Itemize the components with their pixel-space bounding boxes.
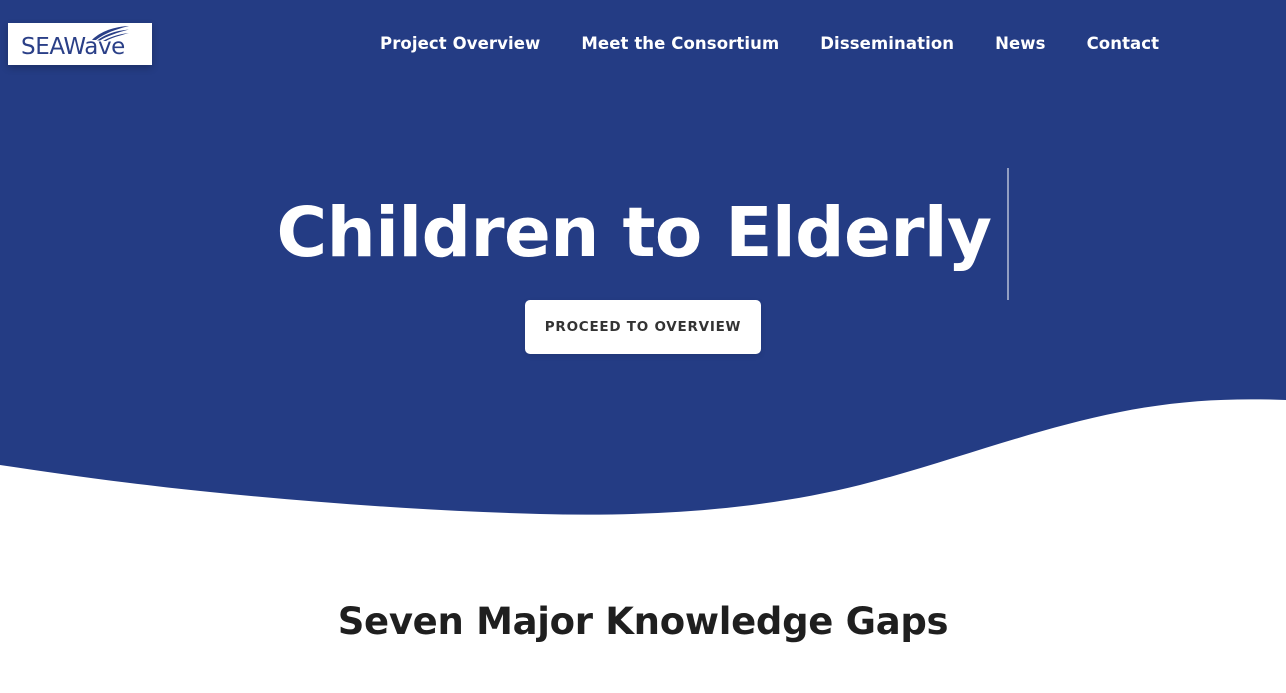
proceed-to-overview-button[interactable]: Proceed to Overview xyxy=(525,300,761,354)
hero-headline-row: Children to Elderly xyxy=(0,168,1286,300)
nav-item-dissemination[interactable]: Dissemination xyxy=(820,30,954,59)
site-logo[interactable]: SEAWave xyxy=(8,23,152,65)
nav-item-news[interactable]: News xyxy=(995,30,1045,59)
page-root: SEAWave Project Overview Meet the Consor… xyxy=(0,0,1286,693)
nav-item-meet-the-consortium[interactable]: Meet the Consortium xyxy=(581,30,779,59)
knowledge-gaps-section: Seven Major Knowledge Gaps xyxy=(0,600,1286,644)
logo-text: SEAWave xyxy=(21,36,125,59)
logo-inner: SEAWave xyxy=(21,27,139,61)
hero-cta-row: Proceed to Overview xyxy=(0,300,1286,354)
nav-item-project-overview[interactable]: Project Overview xyxy=(380,30,540,59)
nav-item-contact[interactable]: Contact xyxy=(1087,30,1160,59)
typing-cursor xyxy=(1007,168,1009,300)
hero-headline: Children to Elderly xyxy=(277,196,992,272)
knowledge-gaps-title: Seven Major Knowledge Gaps xyxy=(0,600,1286,644)
main-navigation: Project Overview Meet the Consortium Dis… xyxy=(380,0,1159,88)
site-header: SEAWave Project Overview Meet the Consor… xyxy=(0,0,1286,88)
